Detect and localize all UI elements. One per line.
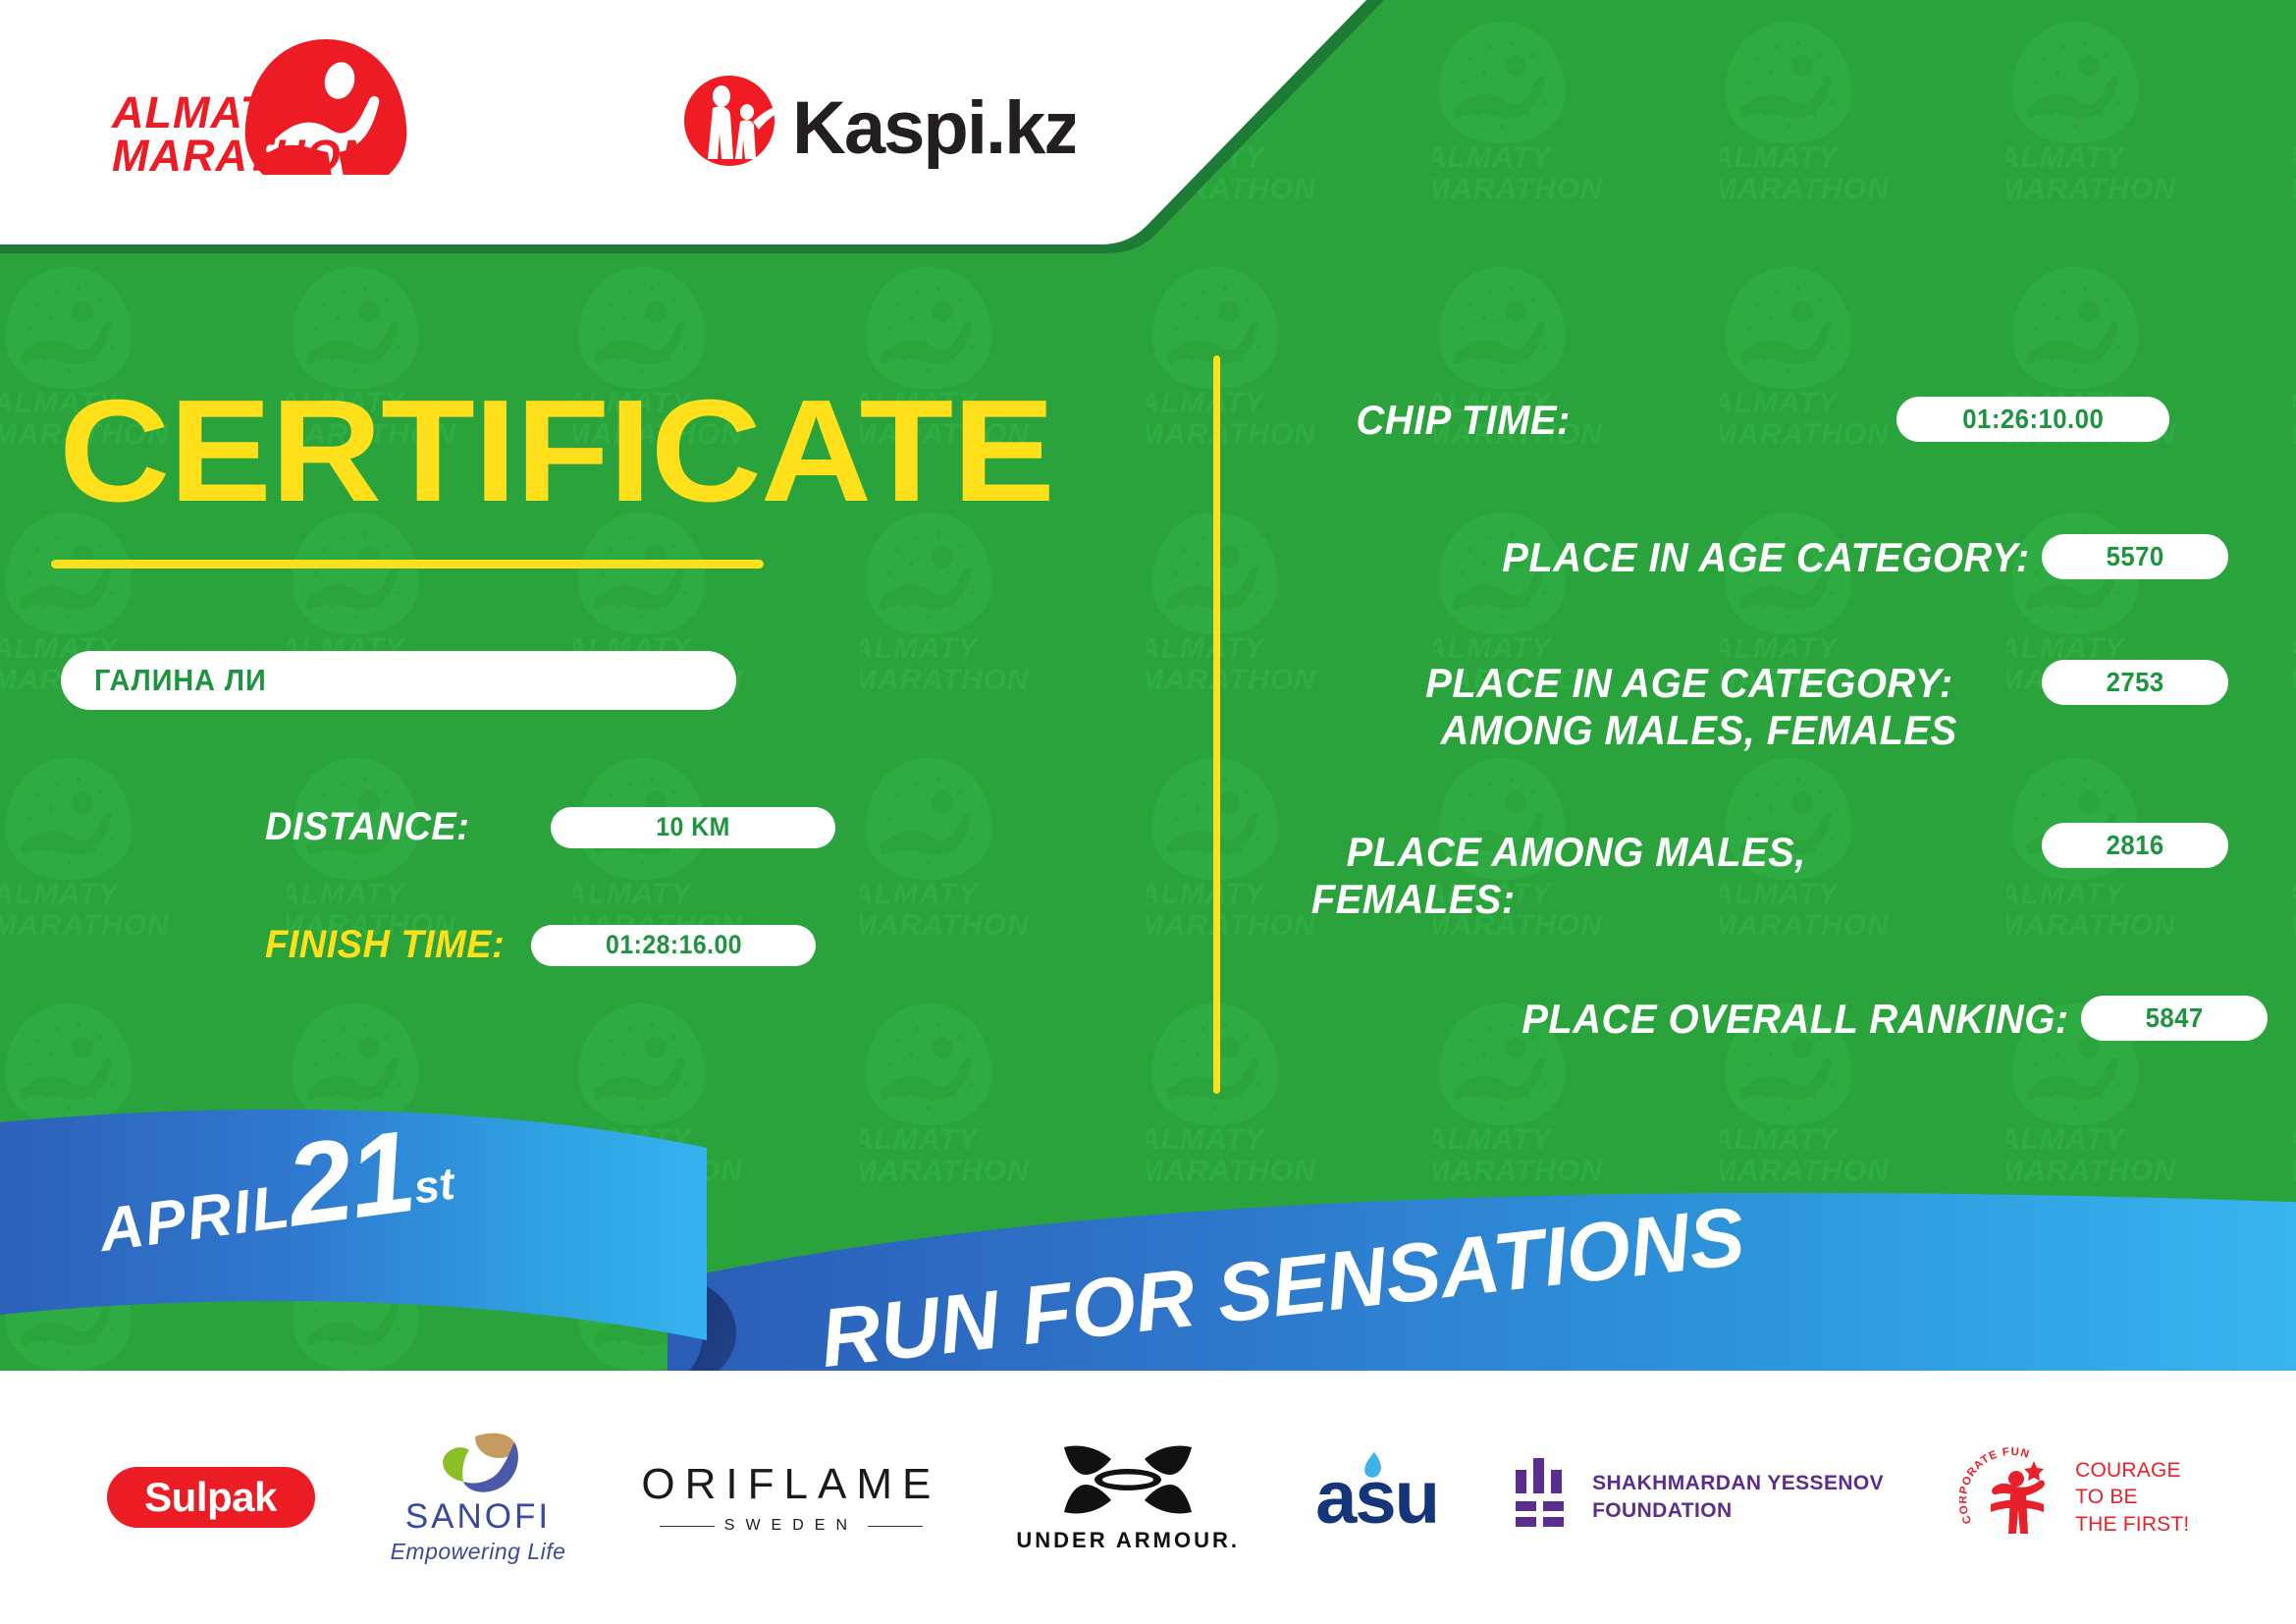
sponsor-band: Sulpak SANOFI Empowering Life ORIFLAME (0, 1371, 2296, 1624)
under-armour-mark-icon (1054, 1441, 1201, 1522)
runner-name-field[interactable]: ГАЛИНА ЛИ (61, 651, 736, 710)
certificate-title: CERTIFICATE (59, 379, 1054, 524)
distance-value-text: 10 KM (657, 812, 730, 842)
courage-line-1: COURAGE (2075, 1457, 2189, 1484)
stat-place-age-category: PLACE IN AGE CATEGORY: 5570 (1256, 522, 2248, 591)
stat-chip-time-value-text: 01:26:10.00 (1962, 404, 2104, 435)
ribbon-day-suffix: st (411, 1158, 457, 1214)
stat-place-age-category-value: 5570 (2042, 534, 2228, 579)
ribbon-month: APRIL (95, 1172, 294, 1265)
finish-time-row: FINISH TIME: 01:28:16.00 (265, 923, 816, 967)
yessenov-line-1: SHAKHMARDAN YESSENOV (1592, 1470, 1884, 1497)
stat-place-age-category-value-text: 5570 (2106, 541, 2163, 572)
stat-place-age-category-label: PLACE IN AGE CATEGORY: (1503, 534, 2030, 580)
stat-place-among-males-females-value: 2816 (2042, 823, 2228, 868)
stat-place-overall-ranking-value: 5847 (2081, 996, 2268, 1041)
sponsor-oriflame: ORIFLAME SWEDEN (641, 1460, 940, 1535)
oriflame-rule-right (868, 1526, 923, 1527)
oriflame-rule-left (660, 1526, 715, 1527)
certificate-page: ALMATY MARATHON ALMATY MARATHON (0, 0, 2296, 1624)
courage-mark-icon: CORPORATE FUND (1959, 1443, 2067, 1551)
title-underline (51, 560, 764, 568)
sulpak-logo: Sulpak (107, 1467, 315, 1528)
sponsor-asu: asu (1315, 1455, 1438, 1541)
oriflame-logo-text: ORIFLAME (641, 1460, 940, 1509)
stat-place-age-category-among-value-text: 2753 (2106, 667, 2163, 698)
courage-line-3: THE FIRST! (2075, 1511, 2189, 1538)
stat-chip-time-value: 01:26:10.00 (1896, 397, 2169, 442)
courage-line-2: TO BE (2075, 1484, 2189, 1510)
sponsor-courage-to-be-the-first: CORPORATE FUND COURAGE TO BE THE FIRST! (1959, 1443, 2189, 1551)
yessenov-line-2: FOUNDATION (1592, 1497, 1884, 1525)
distance-label: DISTANCE: (265, 805, 469, 849)
stat-chip-time-label: CHIP TIME: (1357, 397, 1571, 443)
stat-place-age-category-among-label-line1: PLACE IN AGE CATEGORY: (1426, 660, 1953, 706)
sanofi-tagline: Empowering Life (391, 1539, 566, 1565)
stat-place-among-males-females-label-line2: FEMALES: (1311, 876, 1516, 922)
stat-chip-time: CHIP TIME: 01:26:10.00 (1256, 385, 2248, 454)
finish-time-value-text: 01:28:16.00 (606, 930, 742, 960)
sponsor-sanofi: SANOFI Empowering Life (391, 1431, 566, 1565)
sponsor-yessenov-foundation: SHAKHMARDAN YESSENOV FOUNDATION (1514, 1456, 1884, 1539)
distance-value: 10 KM (551, 807, 835, 848)
yessenov-text-block: SHAKHMARDAN YESSENOV FOUNDATION (1592, 1470, 1884, 1526)
ribbon-day-number: 21 (280, 1107, 420, 1251)
stat-place-overall-ranking: PLACE OVERALL RANKING: 5847 (1256, 984, 2248, 1053)
sanofi-logo-text: SANOFI (391, 1497, 566, 1537)
finish-time-value: 01:28:16.00 (531, 925, 816, 966)
almaty-marathon-logo: ALMATY MARATHON (108, 37, 422, 175)
under-armour-logo-text: UNDER ARMOUR. (1016, 1528, 1240, 1553)
sanofi-mark-icon (424, 1431, 532, 1495)
kaspi-kz-logo: Kaspi.kz (682, 69, 1075, 172)
sponsor-under-armour: UNDER ARMOUR. (1016, 1441, 1240, 1553)
runner-name-text: ГАЛИНА ЛИ (94, 663, 267, 698)
asu-droplet-icon (1362, 1451, 1384, 1481)
sponsor-sulpak: Sulpak (107, 1467, 315, 1528)
stat-place-overall-ranking-label: PLACE OVERALL RANKING: (1522, 996, 2069, 1042)
yessenov-mark-icon (1514, 1456, 1571, 1539)
svg-text:Kaspi.kz: Kaspi.kz (792, 86, 1075, 170)
sulpak-logo-text: Sulpak (144, 1474, 277, 1521)
finish-time-label: FINISH TIME: (265, 923, 505, 967)
column-divider (1213, 355, 1220, 1094)
stat-place-among-males-females-label-line1: PLACE AMONG MALES, (1347, 829, 1806, 875)
stat-place-age-category-among-value: 2753 (2042, 660, 2228, 705)
oriflame-sub-text: SWEDEN (724, 1517, 858, 1535)
courage-text-block: COURAGE TO BE THE FIRST! (2075, 1457, 2189, 1538)
stat-place-overall-ranking-value-text: 5847 (2145, 1002, 2203, 1034)
stat-place-among-males-females-value-text: 2816 (2106, 830, 2163, 861)
distance-row: DISTANCE: 10 KM (265, 805, 835, 849)
stat-place-age-category-among-label-line2: AMONG MALES, FEMALES (1441, 707, 1957, 753)
stat-place-age-category-among: PLACE IN AGE CATEGORY: AMONG MALES, FEMA… (1256, 654, 2248, 772)
stat-place-among-males-females: PLACE AMONG MALES, FEMALES: 2816 (1256, 823, 2248, 941)
svg-text:MARATHON: MARATHON (112, 131, 375, 175)
oriflame-sub-row: SWEDEN (641, 1517, 940, 1535)
